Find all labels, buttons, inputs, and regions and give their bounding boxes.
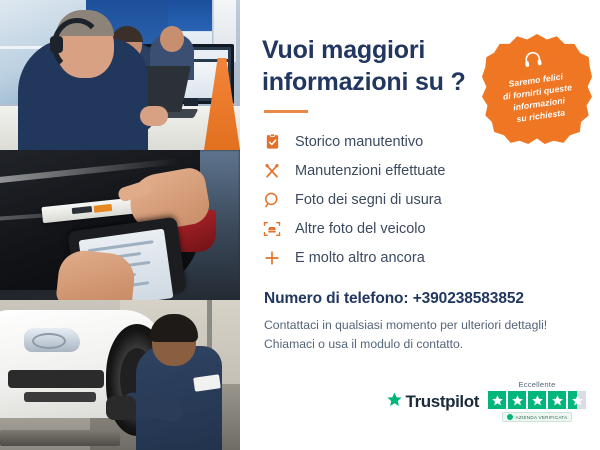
title-underline-rule bbox=[264, 110, 308, 113]
star-icon bbox=[528, 391, 546, 409]
trustpilot-rating-label: Eccellente bbox=[518, 380, 555, 389]
verified-check-icon bbox=[507, 414, 513, 420]
verified-business-badge: AZIENDA VERIFICATA bbox=[502, 412, 573, 422]
trustpilot-star-icon bbox=[386, 391, 403, 413]
car-grille-decor bbox=[8, 370, 104, 388]
list-item-label: Manutenzioni effettuate bbox=[295, 163, 445, 179]
promo-banner: Vuoi maggiori informazioni su ? Storico … bbox=[0, 0, 600, 450]
car-frame-icon bbox=[262, 219, 282, 239]
star-icon bbox=[508, 391, 526, 409]
trustpilot-logo: Trustpilot bbox=[386, 391, 479, 413]
car-lift-decor bbox=[0, 430, 120, 446]
list-item: E molto altro ancora bbox=[262, 243, 578, 272]
agent-hand bbox=[140, 106, 168, 126]
contact-subtext-line-1: Contattaci in qualsiasi momento per ulte… bbox=[264, 316, 578, 335]
trustpilot-wordmark: Trustpilot bbox=[406, 392, 479, 412]
list-item: Manutenzioni effettuate bbox=[262, 156, 578, 185]
mechanic-glove bbox=[106, 396, 136, 420]
agent-headset-earcup bbox=[50, 36, 63, 53]
promo-badge-text: Saremo felici di fornirti queste informa… bbox=[489, 69, 589, 129]
list-item-label: Storico manutentivo bbox=[295, 134, 423, 150]
promo-badge-content: Saremo felici di fornirti queste informa… bbox=[475, 27, 599, 151]
headlamp-decor bbox=[24, 328, 80, 352]
feature-list: Storico manutentivo Manutenzioni effettu… bbox=[262, 127, 578, 272]
list-item-label: Altre foto del veicolo bbox=[295, 221, 426, 237]
page-title: Vuoi maggiori informazioni su ? bbox=[262, 34, 492, 98]
phone-number-line[interactable]: Numero di telefono: +390238583852 bbox=[264, 290, 578, 308]
star-icon bbox=[488, 391, 506, 409]
photo-column bbox=[0, 0, 240, 450]
agent-head-3 bbox=[160, 26, 184, 52]
plus-icon bbox=[262, 248, 282, 268]
promo-badge: Saremo felici di fornirti queste informa… bbox=[482, 34, 592, 144]
headset-icon bbox=[522, 49, 545, 75]
trustpilot-widget[interactable]: Trustpilot Eccellente bbox=[386, 380, 586, 422]
list-item-label: E molto altro ancora bbox=[295, 250, 425, 266]
list-item-label: Foto dei segni di usura bbox=[295, 192, 442, 208]
photo-call-center bbox=[0, 0, 240, 150]
photo-vehicle-inspection bbox=[0, 150, 240, 300]
clipboard-check-icon bbox=[262, 132, 282, 152]
contact-subtext-line-2: Chiamaci o usa il modulo di contatto. bbox=[264, 335, 578, 354]
contact-subtext: Contattaci in qualsiasi momento per ulte… bbox=[264, 316, 578, 353]
photo-garage-service bbox=[0, 300, 240, 450]
magnifier-icon bbox=[262, 190, 282, 210]
star-half-icon bbox=[568, 391, 586, 409]
list-item: Foto dei segni di usura bbox=[262, 185, 578, 214]
car-lower-grille-decor bbox=[24, 392, 96, 402]
content-panel: Vuoi maggiori informazioni su ? Storico … bbox=[240, 0, 600, 450]
trustpilot-stars bbox=[488, 391, 586, 409]
trustpilot-rating-block: Eccellente bbox=[488, 380, 586, 422]
verified-business-label: AZIENDA VERIFICATA bbox=[516, 415, 568, 420]
star-icon bbox=[548, 391, 566, 409]
wrench-screwdriver-icon bbox=[262, 161, 282, 181]
list-item: Altre foto del veicolo bbox=[262, 214, 578, 243]
